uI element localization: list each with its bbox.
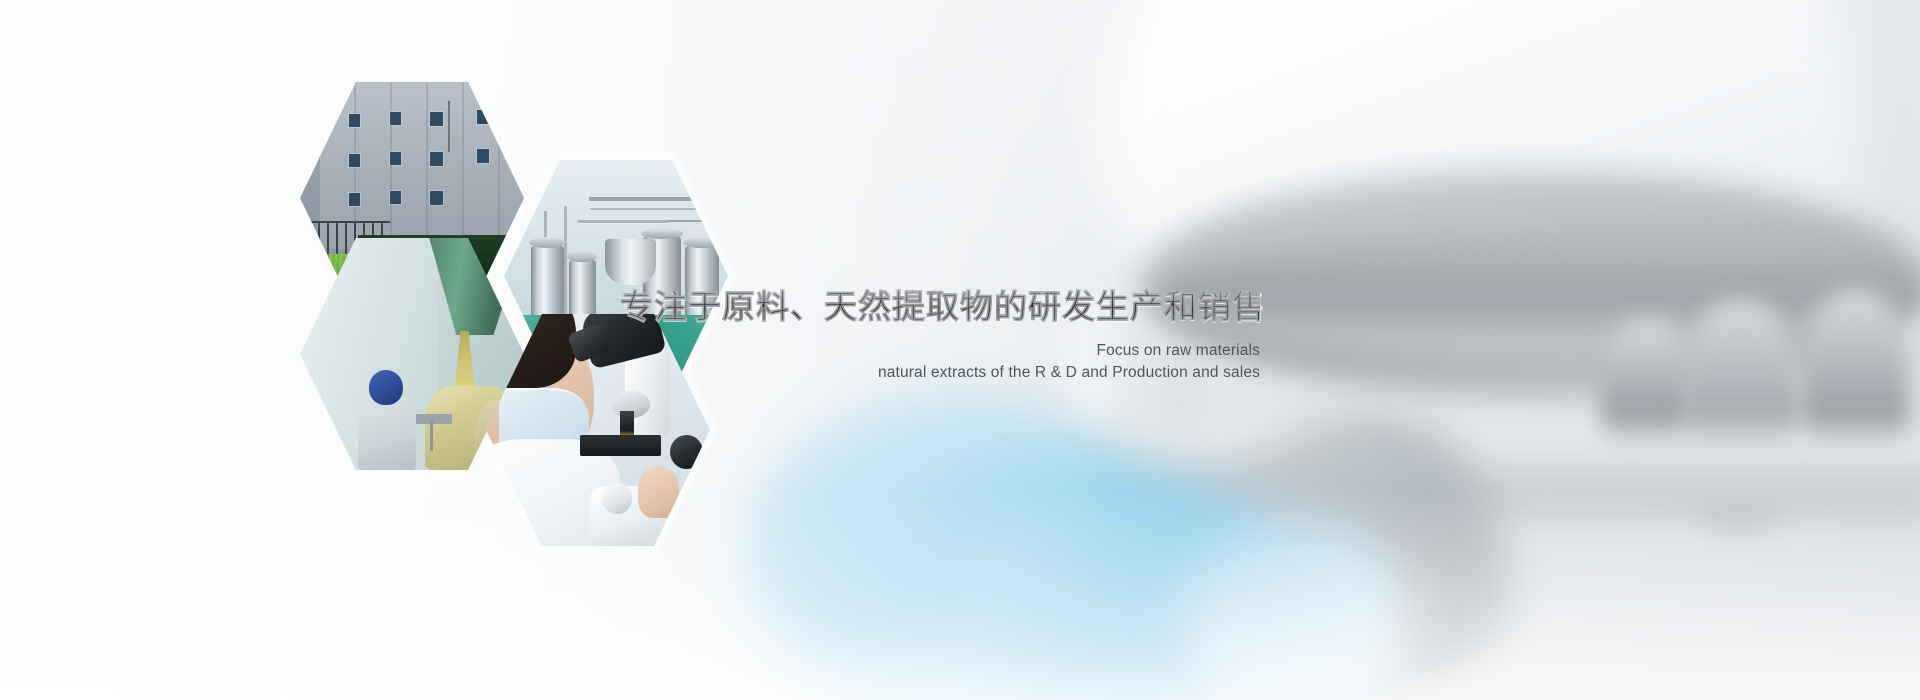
extraction-tank: [531, 246, 565, 316]
window: [349, 193, 360, 206]
pipe: [578, 220, 668, 223]
weighing-scale: [416, 414, 452, 423]
window: [349, 154, 360, 167]
overhead-rail: [589, 197, 723, 201]
microscope-stage: [580, 435, 661, 456]
hexagon-photo-cluster: 陕西万源: [296, 82, 716, 462]
hero-banner: 陕西万源: [0, 0, 1920, 700]
window: [477, 149, 489, 163]
extraction-tank: [569, 260, 596, 316]
background-bottom-fade: [0, 490, 1920, 700]
light-dial: [602, 483, 631, 513]
window: [430, 152, 443, 166]
window: [349, 114, 360, 127]
window: [390, 112, 401, 125]
window: [430, 112, 443, 126]
pipe: [564, 206, 567, 317]
window: [390, 191, 401, 204]
page-title: 专注于原料、天然提取物的研发生产和销售: [620, 286, 1260, 328]
scale-post: [430, 419, 433, 451]
subtitle-line-2: natural extracts of the R & D and Produc…: [620, 362, 1260, 384]
worker-cap: [369, 370, 403, 405]
subtitle-line-1: Focus on raw materials: [620, 340, 1260, 362]
window: [430, 191, 443, 205]
light-pole: [448, 101, 450, 152]
window: [390, 152, 401, 165]
hero-copy: 专注于原料、天然提取物的研发生产和销售 Focus on raw materia…: [620, 286, 1260, 384]
concentrator-vessel: [605, 239, 657, 285]
